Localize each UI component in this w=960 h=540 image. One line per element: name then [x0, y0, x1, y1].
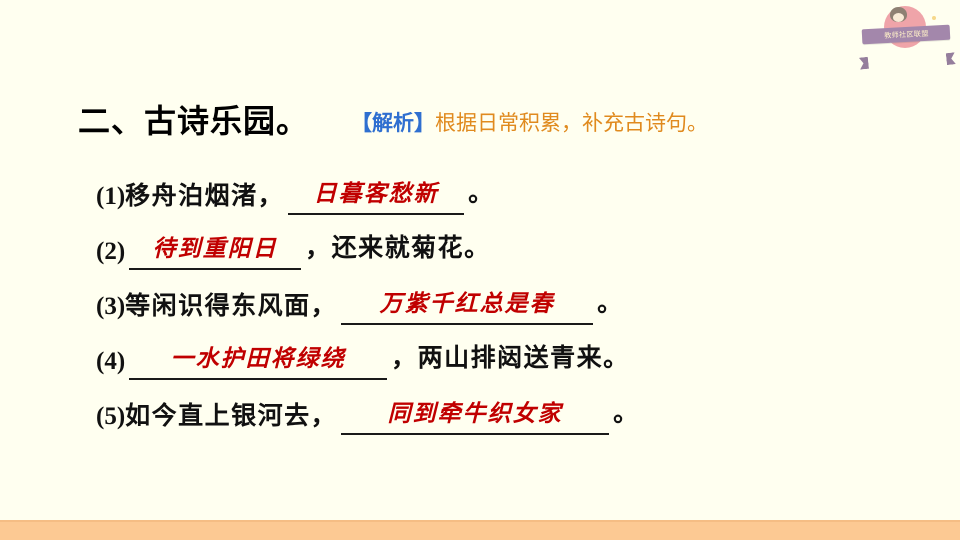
page-title: 二、古诗乐园。 [78, 96, 309, 142]
question-number: (2) [96, 239, 125, 264]
logo-banner-text: 教师社区联盟 [884, 28, 929, 41]
question-item-1: (1) 移舟泊烟渚， 日暮客愁新 。 [96, 160, 930, 215]
question-prompt: 如今直上银河去， [125, 404, 337, 429]
question-item-3: (3) 等闲识得东风面， 万紫千红总是春 。 [96, 270, 930, 325]
logo-sparkle-icon [932, 16, 936, 20]
question-prompt: 移舟泊烟渚， [125, 184, 284, 209]
question-list: (1) 移舟泊烟渚， 日暮客愁新 。 (2) 待到重阳日 ，还来就菊花。 (3)… [96, 160, 930, 435]
analysis-label: 【解析】 [351, 111, 435, 135]
answer-text: 万紫千红总是春 [380, 284, 555, 318]
answer-blank[interactable]: 同到牵牛织女家 [341, 395, 609, 435]
answer-text: 待到重阳日 [153, 229, 278, 263]
question-number: (5) [96, 404, 125, 429]
question-tail: 。 [597, 283, 624, 319]
answer-blank[interactable]: 万紫千红总是春 [341, 285, 593, 325]
question-tail: 。 [613, 393, 640, 429]
logo-face-shape [893, 13, 904, 22]
question-tail: 。 [468, 173, 495, 209]
question-item-5: (5) 如今直上银河去， 同到牵牛织女家 。 [96, 380, 930, 435]
answer-text: 同到牵牛织女家 [388, 394, 563, 428]
question-item-4: (4) 一水护田将绿绕 ，两山排闼送青来。 [96, 325, 930, 380]
slide-canvas: 教师社区联盟 二、古诗乐园。 【解析】根据日常积累，补充古诗句。 (1) 移舟泊… [0, 0, 960, 540]
organization-logo: 教师社区联盟 [860, 2, 952, 52]
question-tail: ，还来就菊花。 [305, 228, 491, 264]
question-item-2: (2) 待到重阳日 ，还来就菊花。 [96, 215, 930, 270]
bottom-accent-strip [0, 522, 960, 540]
logo-ribbon-tail-right [946, 52, 956, 65]
analysis-description: 根据日常积累，补充古诗句。 [435, 111, 708, 135]
answer-blank[interactable]: 待到重阳日 [129, 230, 301, 270]
logo-ribbon-tail-left [859, 57, 869, 70]
analysis-note: 【解析】根据日常积累，补充古诗句。 [351, 107, 708, 137]
answer-text: 一水护田将绿绕 [171, 339, 346, 373]
question-prompt: 等闲识得东风面， [125, 294, 337, 319]
heading-row: 二、古诗乐园。 【解析】根据日常积累，补充古诗句。 [78, 96, 920, 142]
question-number: (4) [96, 349, 125, 374]
logo-banner: 教师社区联盟 [862, 25, 951, 45]
question-number: (3) [96, 294, 125, 319]
answer-blank[interactable]: 日暮客愁新 [288, 175, 464, 215]
question-tail: ，两山排闼送青来。 [391, 338, 630, 374]
question-number: (1) [96, 184, 125, 209]
answer-blank[interactable]: 一水护田将绿绕 [129, 340, 387, 380]
answer-text: 日暮客愁新 [314, 174, 439, 208]
